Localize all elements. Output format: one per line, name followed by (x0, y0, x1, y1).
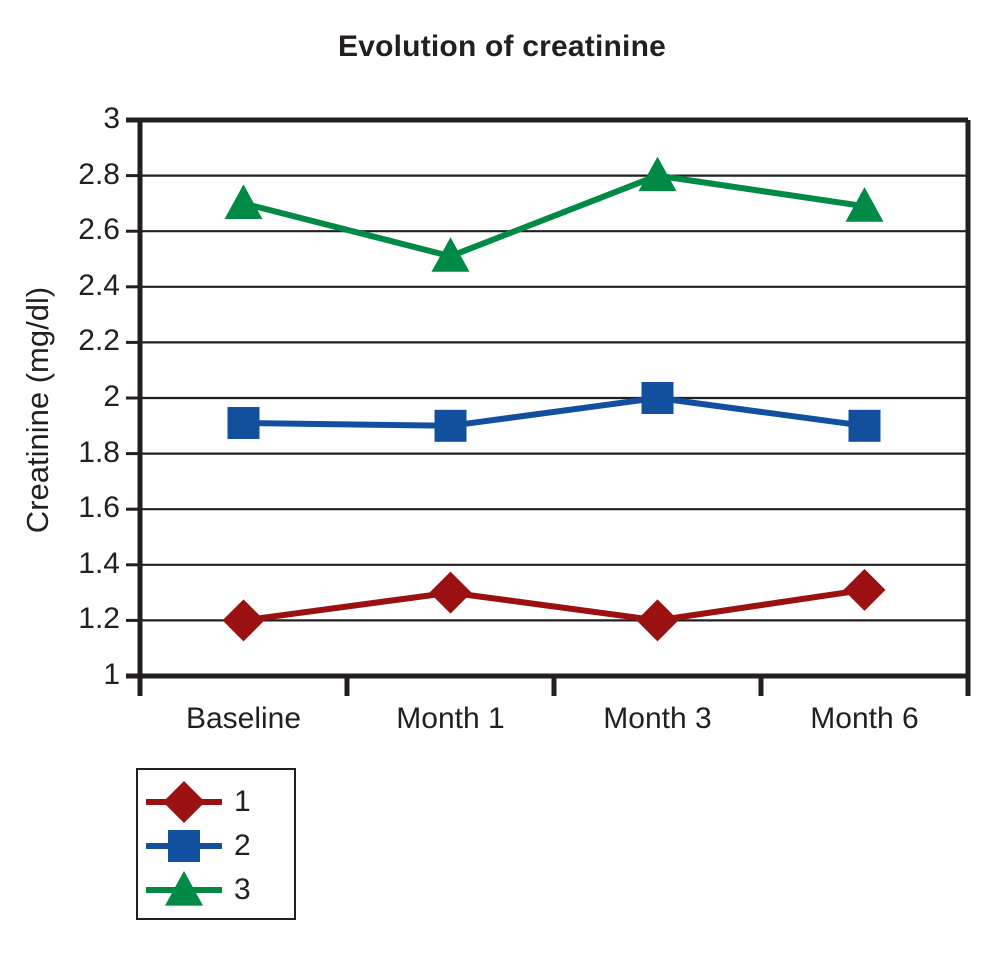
marker-diamond (637, 599, 679, 641)
marker-square (642, 382, 674, 414)
series-3 (225, 157, 884, 272)
marker-diamond (163, 781, 205, 823)
marker-square (849, 410, 881, 442)
marker-square (435, 410, 467, 442)
series-1 (223, 569, 886, 642)
y-tick-label: 1.2 (8, 604, 120, 634)
y-tick-label: 2 (8, 382, 120, 412)
legend-item-1[interactable]: 1 (138, 780, 298, 824)
chart-figure: Evolution of creatinine Creatinine (mg/d… (0, 0, 1004, 954)
series-2 (228, 382, 881, 442)
marker-diamond (430, 572, 472, 614)
y-tick-label: 2.8 (8, 160, 120, 190)
legend-marker-triangle-icon (138, 868, 230, 912)
y-tick-label: 1 (8, 660, 120, 690)
marker-triangle (639, 157, 677, 192)
y-tick-label: 2.2 (8, 326, 120, 356)
series-line (244, 176, 865, 257)
x-tick-label: Month 6 (761, 704, 968, 734)
legend-marker-diamond-icon (138, 780, 230, 824)
legend-label: 2 (234, 831, 251, 861)
y-tick-label: 3 (8, 104, 120, 134)
y-tick-label: 1.8 (8, 438, 120, 468)
x-tick-label: Month 3 (554, 704, 761, 734)
marker-square (228, 407, 260, 439)
series-line (244, 590, 865, 621)
y-tick-label: 2.6 (8, 215, 120, 245)
marker-triangle (225, 184, 263, 219)
y-tick-label: 1.4 (8, 549, 120, 579)
x-tick-label: Baseline (140, 704, 347, 734)
chart-legend: 123 (136, 768, 296, 920)
marker-square (168, 830, 200, 862)
y-tick-label: 1.6 (8, 493, 120, 523)
marker-diamond (223, 599, 265, 641)
legend-label: 3 (234, 875, 251, 905)
series-line (244, 398, 865, 426)
legend-item-2[interactable]: 2 (138, 824, 298, 868)
legend-label: 1 (234, 787, 251, 817)
legend-marker-square-icon (138, 824, 230, 868)
x-axis-ticks (140, 676, 968, 696)
marker-diamond (844, 569, 886, 611)
x-tick-label: Month 1 (347, 704, 554, 734)
y-tick-label: 2.4 (8, 271, 120, 301)
legend-item-3[interactable]: 3 (138, 868, 298, 912)
